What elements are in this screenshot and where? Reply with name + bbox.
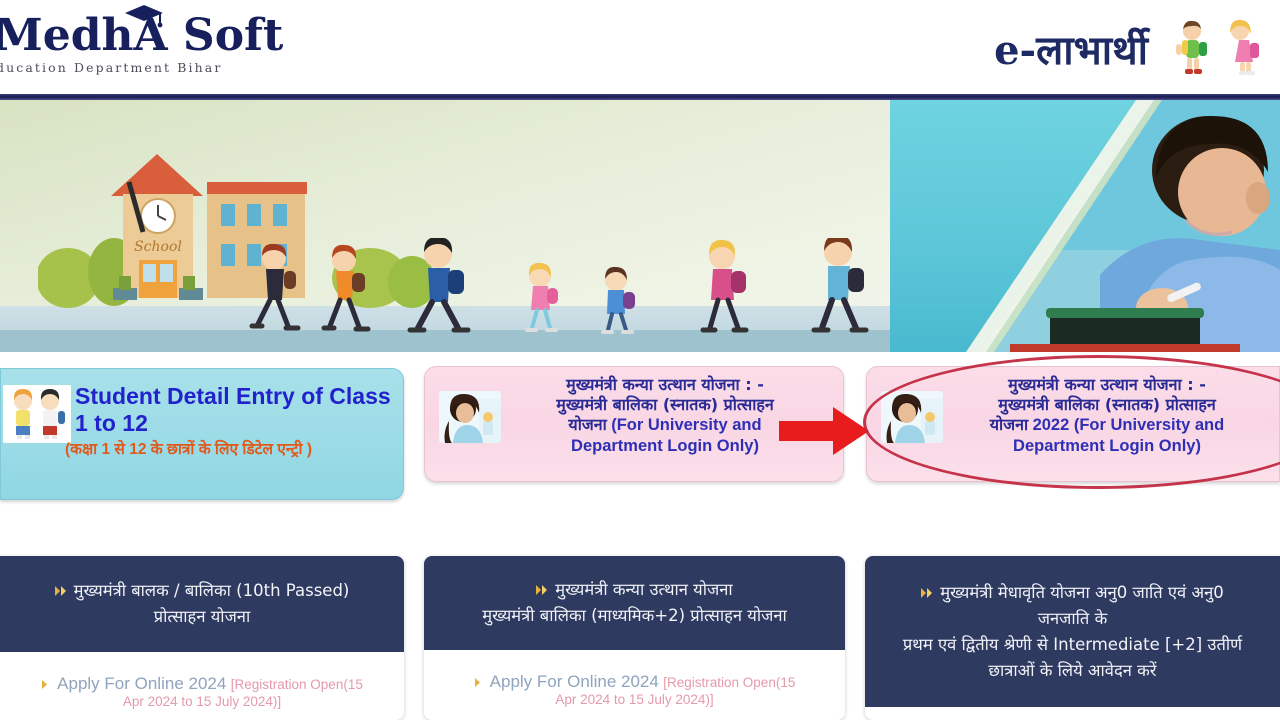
red-right-arrow-icon xyxy=(779,405,869,457)
bottom1-reg-line1: [Registration Open(15 xyxy=(231,677,363,692)
gold-chevron-icon xyxy=(474,675,486,686)
medhasoft-logo[interactable]: MedhA Soft ducation Department Bihar xyxy=(0,14,294,84)
card-balak-balika-10th-passed[interactable]: मुख्यमंत्री बालक / बालिका (10th Passed) … xyxy=(0,556,404,720)
kanya2022-line-1: मुख्यमंत्री कन्या उत्थान योजना : - xyxy=(949,375,1265,395)
elabharthi-title: e-लाभार्थी xyxy=(994,21,1148,76)
walking-students-icon xyxy=(248,238,948,348)
gold-double-chevron-icon xyxy=(536,578,550,590)
kanya-line-3: योजना (For University and xyxy=(507,415,823,436)
bottom2-apply-row[interactable]: Apply For Online 2024 [Registration Open… xyxy=(436,672,833,692)
kanya2022-line-3-en: 2022 (For University and xyxy=(1033,416,1225,434)
gold-double-chevron-icon xyxy=(55,579,69,591)
card-header: मुख्यमंत्री मेधावृति योजना अनु0 जाति एवं… xyxy=(865,556,1280,707)
girl-student-photo-icon xyxy=(881,391,943,443)
kanya-line-1: मुख्यमंत्री कन्या उत्थान योजना : - xyxy=(507,375,823,395)
kanya-line-3-en: (For University and xyxy=(611,416,761,434)
hero-banner: School xyxy=(0,100,1280,352)
logo-tagline: ducation Department Bihar xyxy=(0,60,294,75)
kanya2022-line-4: Department Login Only) xyxy=(949,436,1265,456)
kanya-line-3-hi: योजना xyxy=(568,415,606,434)
bottom1-reg-line2: Apr 2024 to 15 July 2024)] xyxy=(12,694,392,709)
svg-text:School: School xyxy=(134,239,182,255)
card-kanya-utthan-madhyamik[interactable]: मुख्यमंत्री कन्या उत्थान योजना मुख्यमंत्… xyxy=(424,556,845,720)
girl-student-photo-icon xyxy=(439,391,501,443)
card-student-detail-entry[interactable]: Student Detail Entry of Class 1 to 12 (क… xyxy=(0,368,404,500)
gold-double-chevron-icon xyxy=(921,581,935,593)
kanya2022-line-3-hi: योजना xyxy=(990,415,1028,434)
bottom2-head-line2: मुख्यमंत्री बालिका (माध्यमिक+2) प्रोत्सा… xyxy=(482,603,787,629)
bottom2-apply-link[interactable]: Apply For Online 2024 xyxy=(490,672,659,691)
bottom3-head-line3: प्रथम एवं द्वितीय श्रेणी से Intermediate… xyxy=(903,632,1242,658)
card-kanya-utthan-2022-text: मुख्यमंत्री कन्या उत्थान योजना : - मुख्य… xyxy=(949,375,1265,456)
kanya2022-line-2: मुख्यमंत्री बालिका (स्नातक) प्रोत्साहन xyxy=(949,395,1265,415)
banner-illustration-area: School xyxy=(0,100,960,352)
bottom1-apply-row[interactable]: Apply For Online 2024 [Registration Open… xyxy=(12,674,392,694)
bottom1-apply-link[interactable]: Apply For Online 2024 xyxy=(57,674,226,693)
gold-chevron-icon xyxy=(41,677,53,688)
card-body: Apply For Online 2024 [Registration Open… xyxy=(424,650,845,717)
bottom3-head-line2: जनजाति के xyxy=(903,606,1242,632)
top-card-row: Student Detail Entry of Class 1 to 12 (क… xyxy=(0,360,1280,500)
bottom2-reg-line1: [Registration Open(15 xyxy=(663,675,795,690)
logo-wordmark-wrap: MedhA Soft xyxy=(0,14,294,58)
card-student-detail-title: Student Detail Entry of Class 1 to 12 xyxy=(75,383,401,437)
card-kanya-utthan-text: मुख्यमंत्री कन्या उत्थान योजना : - मुख्य… xyxy=(507,375,823,456)
bottom1-head-line2: प्रोत्साहन योजना xyxy=(55,604,350,630)
card-header: मुख्यमंत्री कन्या उत्थान योजना मुख्यमंत्… xyxy=(424,556,845,650)
bottom-card-row: मुख्यमंत्री बालक / बालिका (10th Passed) … xyxy=(0,556,1280,720)
card-header-text: मुख्यमंत्री बालक / बालिका (10th Passed) … xyxy=(55,578,350,630)
site-header: MedhA Soft ducation Department Bihar e-ल… xyxy=(0,0,1280,94)
card-header: मुख्यमंत्री बालक / बालिका (10th Passed) … xyxy=(0,556,404,652)
bottom3-head-line4: छात्राओं के लिये आवेदन करें xyxy=(903,658,1242,684)
two-students-icon xyxy=(3,385,71,443)
graduation-cap-icon xyxy=(124,4,164,30)
banner-photo-area xyxy=(890,100,1280,352)
card-medhavriti-yojana[interactable]: मुख्यमंत्री मेधावृति योजना अनु0 जाति एवं… xyxy=(865,556,1280,720)
kanya2022-line-3: योजना 2022 (For University and xyxy=(949,415,1265,436)
card-header-text: मुख्यमंत्री मेधावृति योजना अनु0 जाति एवं… xyxy=(903,580,1242,684)
brand-right-group: e-लाभार्थी xyxy=(994,16,1272,80)
bottom3-head-line1: मुख्यमंत्री मेधावृति योजना अनु0 जाति एवं… xyxy=(940,583,1223,602)
banner-diagonal-divider xyxy=(940,100,1280,352)
kanya-line-2: मुख्यमंत्री बालिका (स्नातक) प्रोत्साहन xyxy=(507,395,823,415)
bottom2-head-line1: मुख्यमंत्री कन्या उत्थान योजना xyxy=(555,580,732,599)
bottom2-reg-line2: Apr 2024 to 15 July 2024)] xyxy=(436,692,833,707)
card-body: Apply For Online 2024 [Registration Open… xyxy=(0,652,404,719)
two-school-children-icon xyxy=(1162,17,1272,79)
card-kanya-utthan-yojana-2022[interactable]: मुख्यमंत्री कन्या उत्थान योजना : - मुख्य… xyxy=(866,366,1280,482)
card-header-text: मुख्यमंत्री कन्या उत्थान योजना मुख्यमंत्… xyxy=(482,577,787,629)
bottom1-head-line1: मुख्यमंत्री बालक / बालिका (10th Passed) xyxy=(74,581,350,600)
card-student-detail-subtitle: (कक्षा 1 से 12 के छात्रों के लिए डिटेल ए… xyxy=(65,439,405,461)
kanya-line-4: Department Login Only) xyxy=(507,436,823,456)
